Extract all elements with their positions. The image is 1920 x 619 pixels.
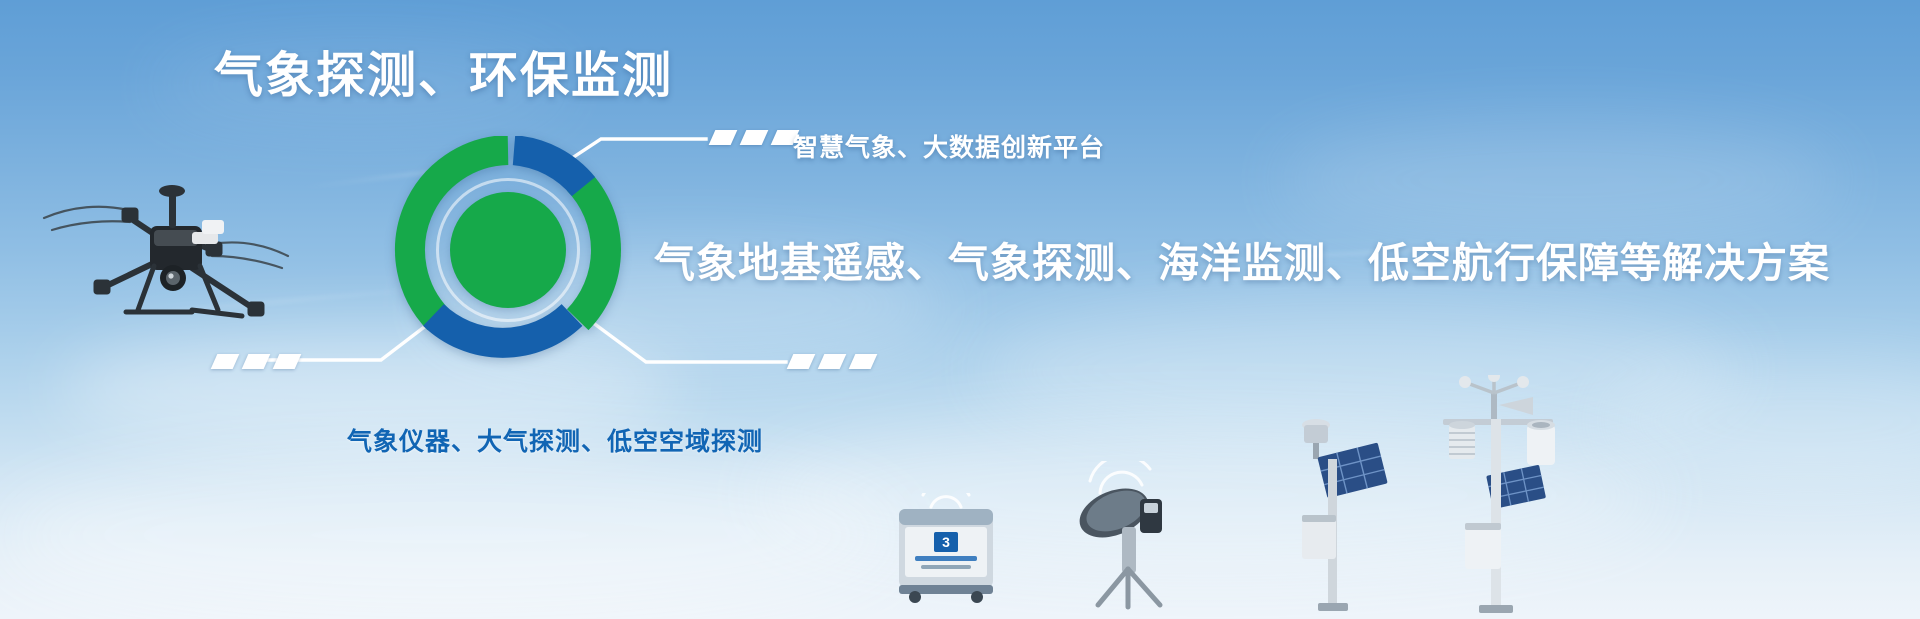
callout-main-text: 气象地基遥感、气象探测、海洋监测、低空航行保障等解决方案 <box>654 229 1830 289</box>
ring-logo <box>394 136 622 364</box>
callout-bottom-text: 气象仪器、大气探测、低空空域探测 <box>347 422 763 458</box>
slash-dash-marks-left <box>214 354 298 369</box>
slash-icon <box>740 130 769 145</box>
slash-icon <box>849 354 878 369</box>
slash-icon <box>818 354 847 369</box>
cloud-wash <box>1280 120 1840 240</box>
slash-dash-marks-top <box>712 130 796 145</box>
slash-icon <box>211 354 240 369</box>
page-title: 气象探测、环保监测 <box>214 50 673 104</box>
solar-panel-station-icon <box>1280 403 1390 613</box>
circular-ring-logo-icon <box>394 136 622 364</box>
satellite-dish-icon <box>1070 461 1190 611</box>
quadcopter-drone-icon <box>42 160 292 345</box>
banner-stage: 气象探测、环保监测 <box>0 0 1920 619</box>
slash-icon <box>709 130 738 145</box>
svg-text:3: 3 <box>942 534 950 550</box>
weather-mast-anemometer-icon <box>1415 375 1585 615</box>
slash-icon <box>273 354 302 369</box>
slash-icon <box>242 354 271 369</box>
cloud-wash <box>1600 360 1920 480</box>
callout-top-text: 智慧气象、大数据创新平台 <box>793 128 1105 164</box>
slash-icon <box>787 354 816 369</box>
slash-dash-marks-right <box>790 354 874 369</box>
cloud-wash <box>0 450 900 619</box>
wind-lidar-cabinet-icon: 3 <box>893 493 999 603</box>
